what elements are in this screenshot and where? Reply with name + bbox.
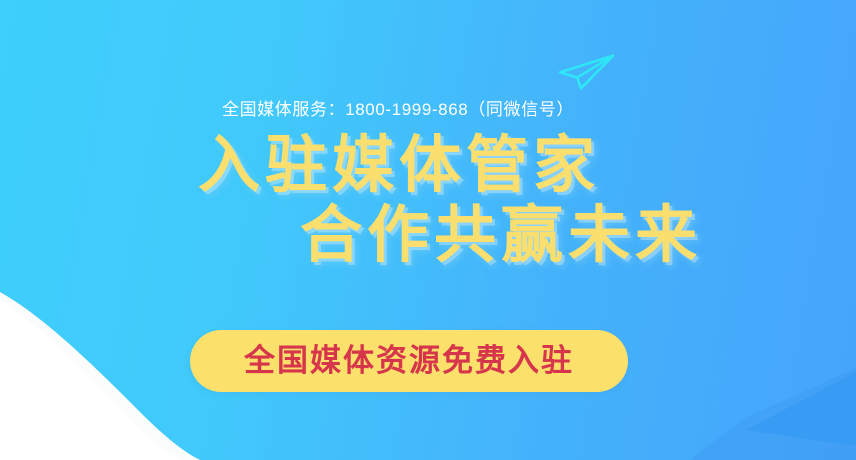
service-contact-line: 全国媒体服务：1800-1999-868（同微信号） bbox=[222, 99, 574, 121]
cta-button-label: 全国媒体资源免费入驻 bbox=[244, 344, 574, 378]
headline-block: 入驻媒体管家 合作共赢未来 bbox=[0, 132, 856, 270]
banner-content: 全国媒体服务：1800-1999-868（同微信号） 入驻媒体管家 合作共赢未来… bbox=[0, 0, 856, 460]
free-join-cta-button[interactable]: 全国媒体资源免费入驻 bbox=[190, 330, 628, 392]
headline-line-2: 合作共赢未来 bbox=[0, 202, 856, 270]
headline-line-1: 入驻媒体管家 bbox=[0, 132, 856, 200]
promo-banner: 全国媒体服务：1800-1999-868（同微信号） 入驻媒体管家 合作共赢未来… bbox=[0, 0, 856, 460]
